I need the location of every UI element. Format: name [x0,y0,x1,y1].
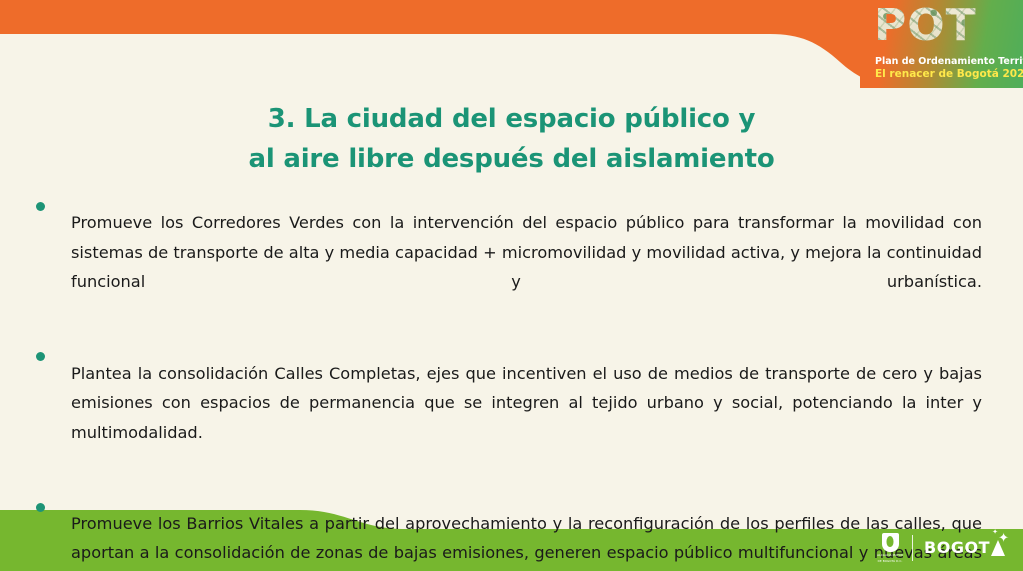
bullet-dot-icon [36,352,45,361]
pot-wordmark: POT [874,4,977,48]
slide-title: 3. La ciudad del espacio público y al ai… [0,99,1023,179]
shield-emblem-icon [882,533,899,552]
shield-caption-line-1: ALCALDÍA MAYOR [877,554,903,557]
bogota-wordmark: BOGOT [924,540,990,556]
bogota-triangle-a-icon: ✦ ✦ [991,540,1005,556]
bullet-list: Promueve los Corredores Verdes con la in… [36,192,982,571]
pot-logo-block: POT Plan de Ordenamiento Territorial El … [860,0,1023,88]
bullet-dot-icon [36,202,45,211]
small-star-icon: ✦ [992,529,998,536]
slide-title-line-1: 3. La ciudad del espacio público y [0,99,1023,139]
bullet-text: Promueve los Corredores Verdes con la in… [71,208,982,326]
bullet-text: Plantea la consolidación Calles Completa… [71,359,982,477]
list-item: Promueve los Barrios Vitales a partir de… [36,493,982,571]
shield-caption-line-2: DE BOGOTÁ D.C. [878,560,903,563]
logo-divider [912,535,913,561]
footer-logo-lockup: ALCALDÍA MAYOR DE BOGOTÁ D.C. BOGOT ✦ ✦ [879,533,1005,563]
bullet-text: Promueve los Barrios Vitales a partir de… [71,509,982,571]
bullet-dot-icon [36,503,45,512]
bogota-brand-logo: BOGOT ✦ ✦ [924,540,1005,556]
alcaldia-shield-icon: ALCALDÍA MAYOR DE BOGOTÁ D.C. [879,533,901,563]
pot-subtitle-secondary: El renacer de Bogotá 2022-2035 [875,68,1023,80]
pot-subtitle-primary: Plan de Ordenamiento Territorial [875,56,1023,67]
star-icon: ✦ [998,531,1009,544]
list-item: Plantea la consolidación Calles Completa… [36,342,982,492]
slide-title-line-2: al aire libre después del aislamiento [0,139,1023,179]
slide-canvas: POT Plan de Ordenamiento Territorial El … [0,0,1023,571]
list-item: Promueve los Corredores Verdes con la in… [36,192,982,342]
